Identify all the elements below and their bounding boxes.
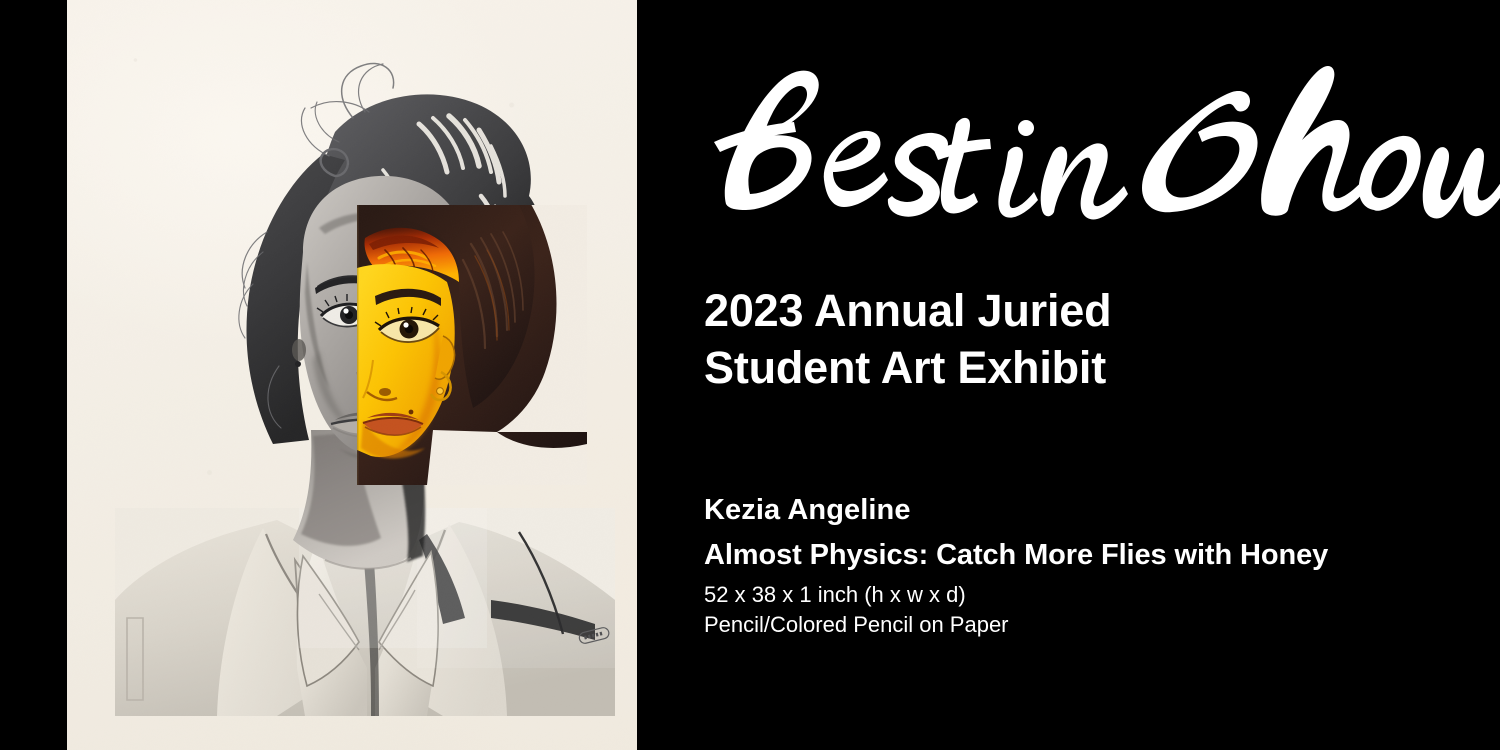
exhibit-award-slide: 2023 Annual Juried Student Art Exhibit K… (0, 0, 1500, 750)
artwork-credit-block: Kezia Angeline Almost Physics: Catch Mor… (704, 492, 1484, 640)
text-pane: 2023 Annual Juried Student Art Exhibit K… (640, 0, 1500, 750)
artwork-dimensions: 52 x 38 x 1 inch (h x w x d) (704, 580, 1484, 609)
artwork-pane (0, 0, 640, 750)
artwork-title: Almost Physics: Catch More Flies with Ho… (704, 537, 1484, 575)
award-title-best-in-show (702, 62, 1462, 222)
exhibit-title: 2023 Annual Juried Student Art Exhibit (704, 283, 1464, 396)
artist-name: Kezia Angeline (704, 492, 1484, 529)
exhibit-title-line-2: Student Art Exhibit (704, 340, 1464, 397)
artwork-portrait-drawing (67, 0, 637, 750)
artwork-medium: Pencil/Colored Pencil on Paper (704, 610, 1484, 639)
exhibit-title-line-1: 2023 Annual Juried (704, 283, 1464, 340)
